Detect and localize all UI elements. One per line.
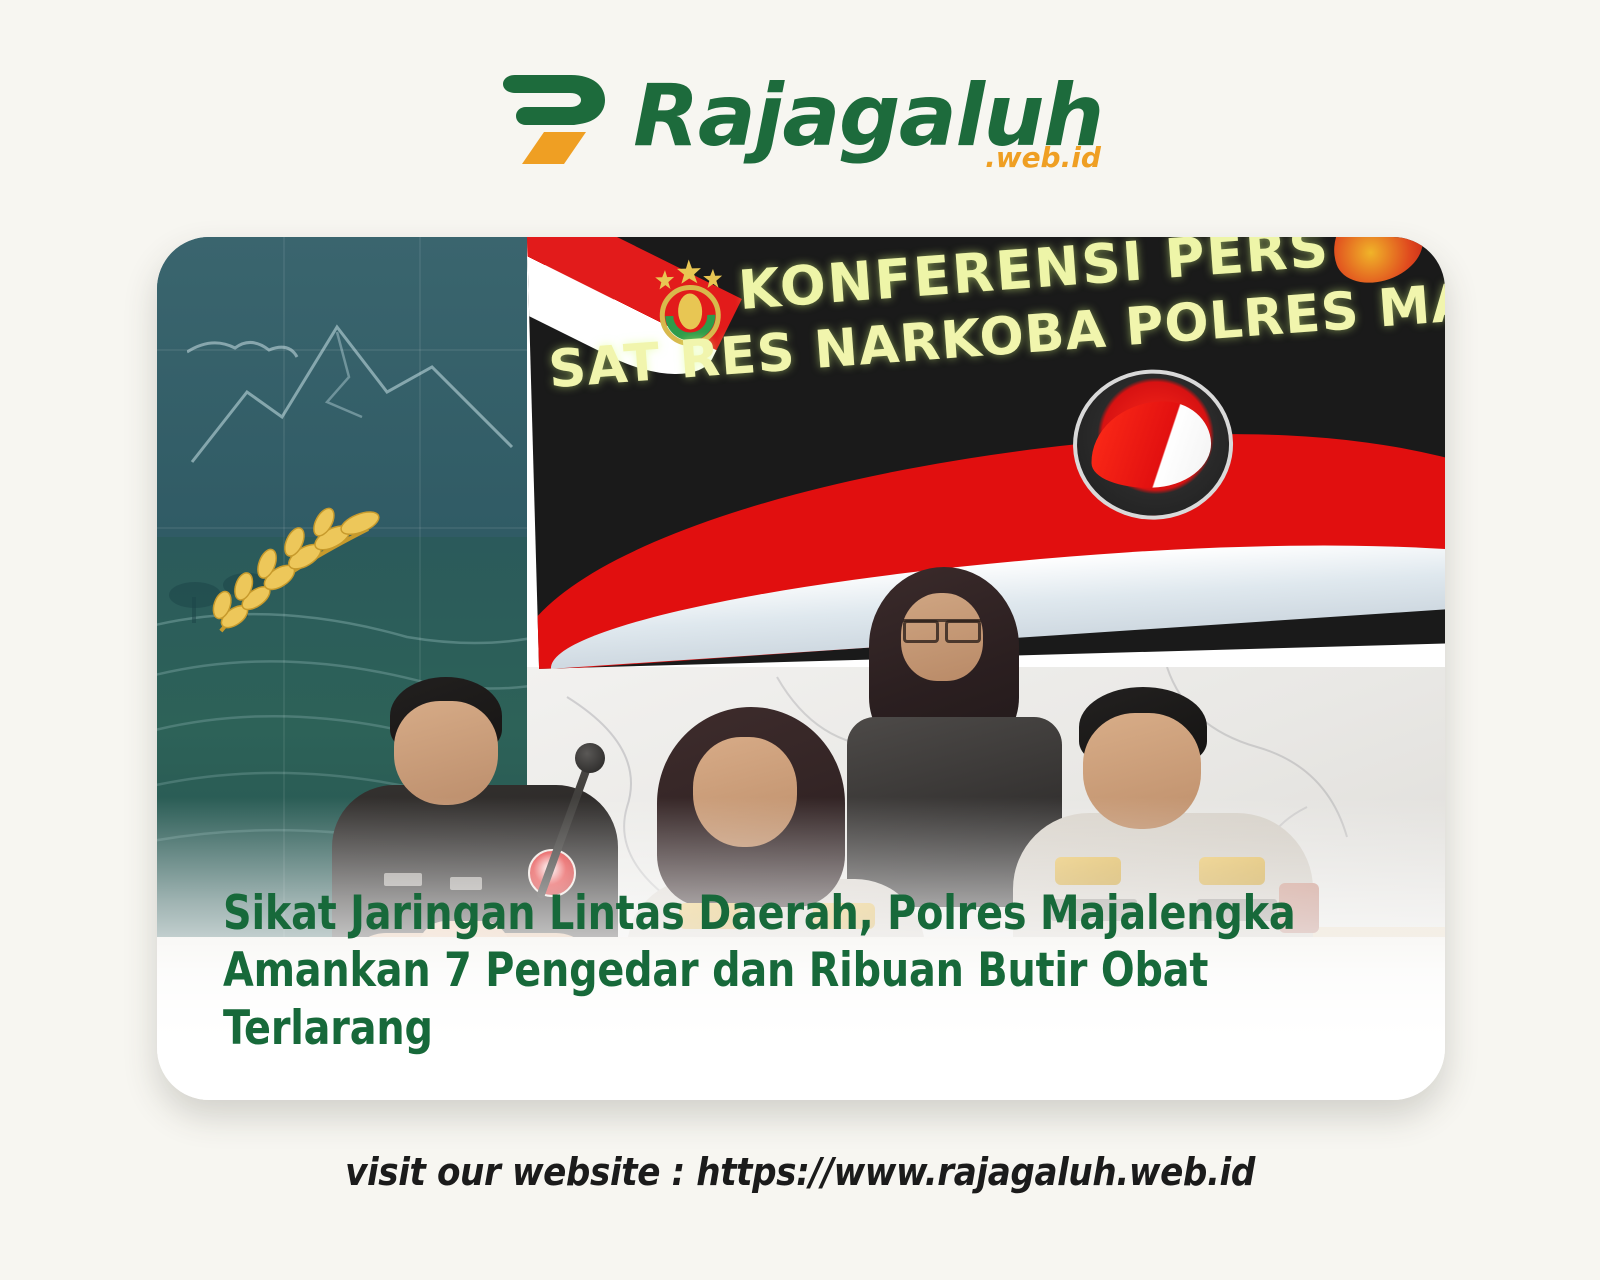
officer-left-face	[394, 701, 498, 805]
padi-wheat-graphic-icon	[197, 484, 391, 639]
poster-root: Rajagaluh .web.id	[0, 0, 1600, 1280]
mountain-outline-icon	[187, 297, 517, 477]
officer-center-face	[693, 737, 797, 847]
badge-swirl	[1090, 400, 1212, 489]
microphone-icon	[575, 743, 605, 773]
brand-wordmark: Rajagaluh .web.id	[633, 76, 1103, 158]
brand-tld: .web.id	[985, 141, 1101, 174]
epaulet	[1199, 857, 1265, 885]
website-footer: visit our website : https://www.rajagalu…	[0, 1150, 1600, 1194]
epaulet	[1055, 857, 1121, 885]
glasses-icon	[903, 619, 981, 634]
rajagaluh-r-logo-icon	[497, 67, 619, 167]
page-title: Sikat Jaringan Lintas Daerah, Polres Maj…	[223, 885, 1313, 1057]
officer-right-face	[1083, 713, 1201, 829]
news-card: KONFERENSI PERS SAT RES NARKOBA POLRES M…	[157, 237, 1445, 1100]
brand-header: Rajagaluh .web.id	[0, 52, 1600, 182]
mural-panel-seam	[157, 349, 527, 351]
